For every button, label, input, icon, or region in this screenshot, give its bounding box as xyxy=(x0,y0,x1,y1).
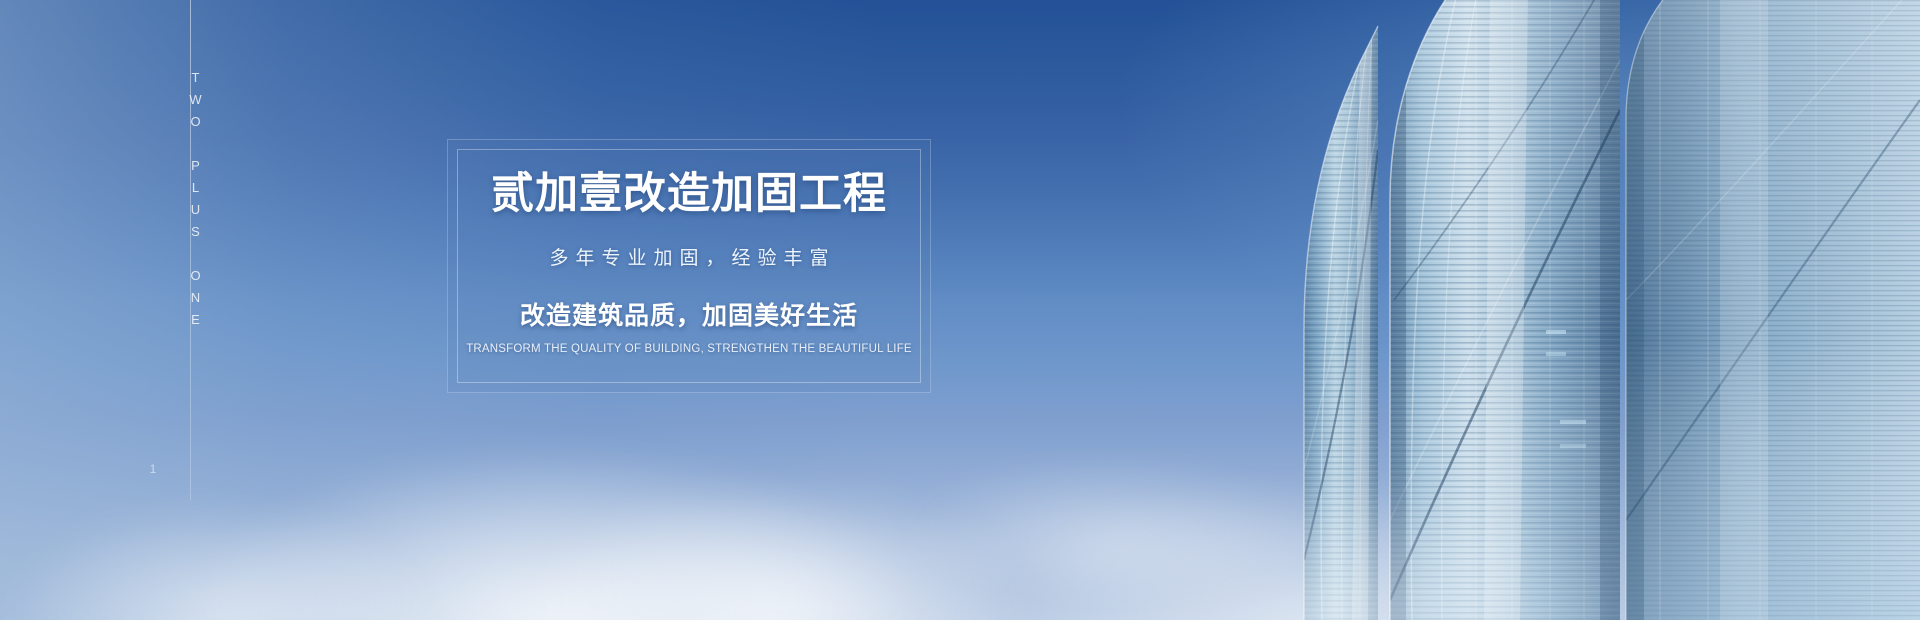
hero-title: 贰加壹改造加固工程 xyxy=(448,172,930,217)
hero-subtitle: 多年专业加固，经验丰富 xyxy=(448,243,930,270)
hero-tagline: 改造建筑品质，加固美好生活 xyxy=(448,296,930,332)
panel-content: 贰加壹改造加固工程 多年专业加固，经验丰富 改造建筑品质，加固美好生活 TRAN… xyxy=(448,172,930,355)
hero-tagline-english: TRANSFORM THE QUALITY OF BUILDING, STREN… xyxy=(448,343,930,355)
sky-glow xyxy=(1094,0,1920,372)
hero-banner: TWO PLUS ONE 1 贰加壹改造加固工程 多年专业加固，经验丰富 改造建… xyxy=(0,0,1920,620)
vertical-brand-label: TWO PLUS ONE xyxy=(176,70,202,334)
hero-text-panel: 贰加壹改造加固工程 多年专业加固，经验丰富 改造建筑品质，加固美好生活 TRAN… xyxy=(447,139,931,393)
slide-number: 1 xyxy=(146,462,160,478)
